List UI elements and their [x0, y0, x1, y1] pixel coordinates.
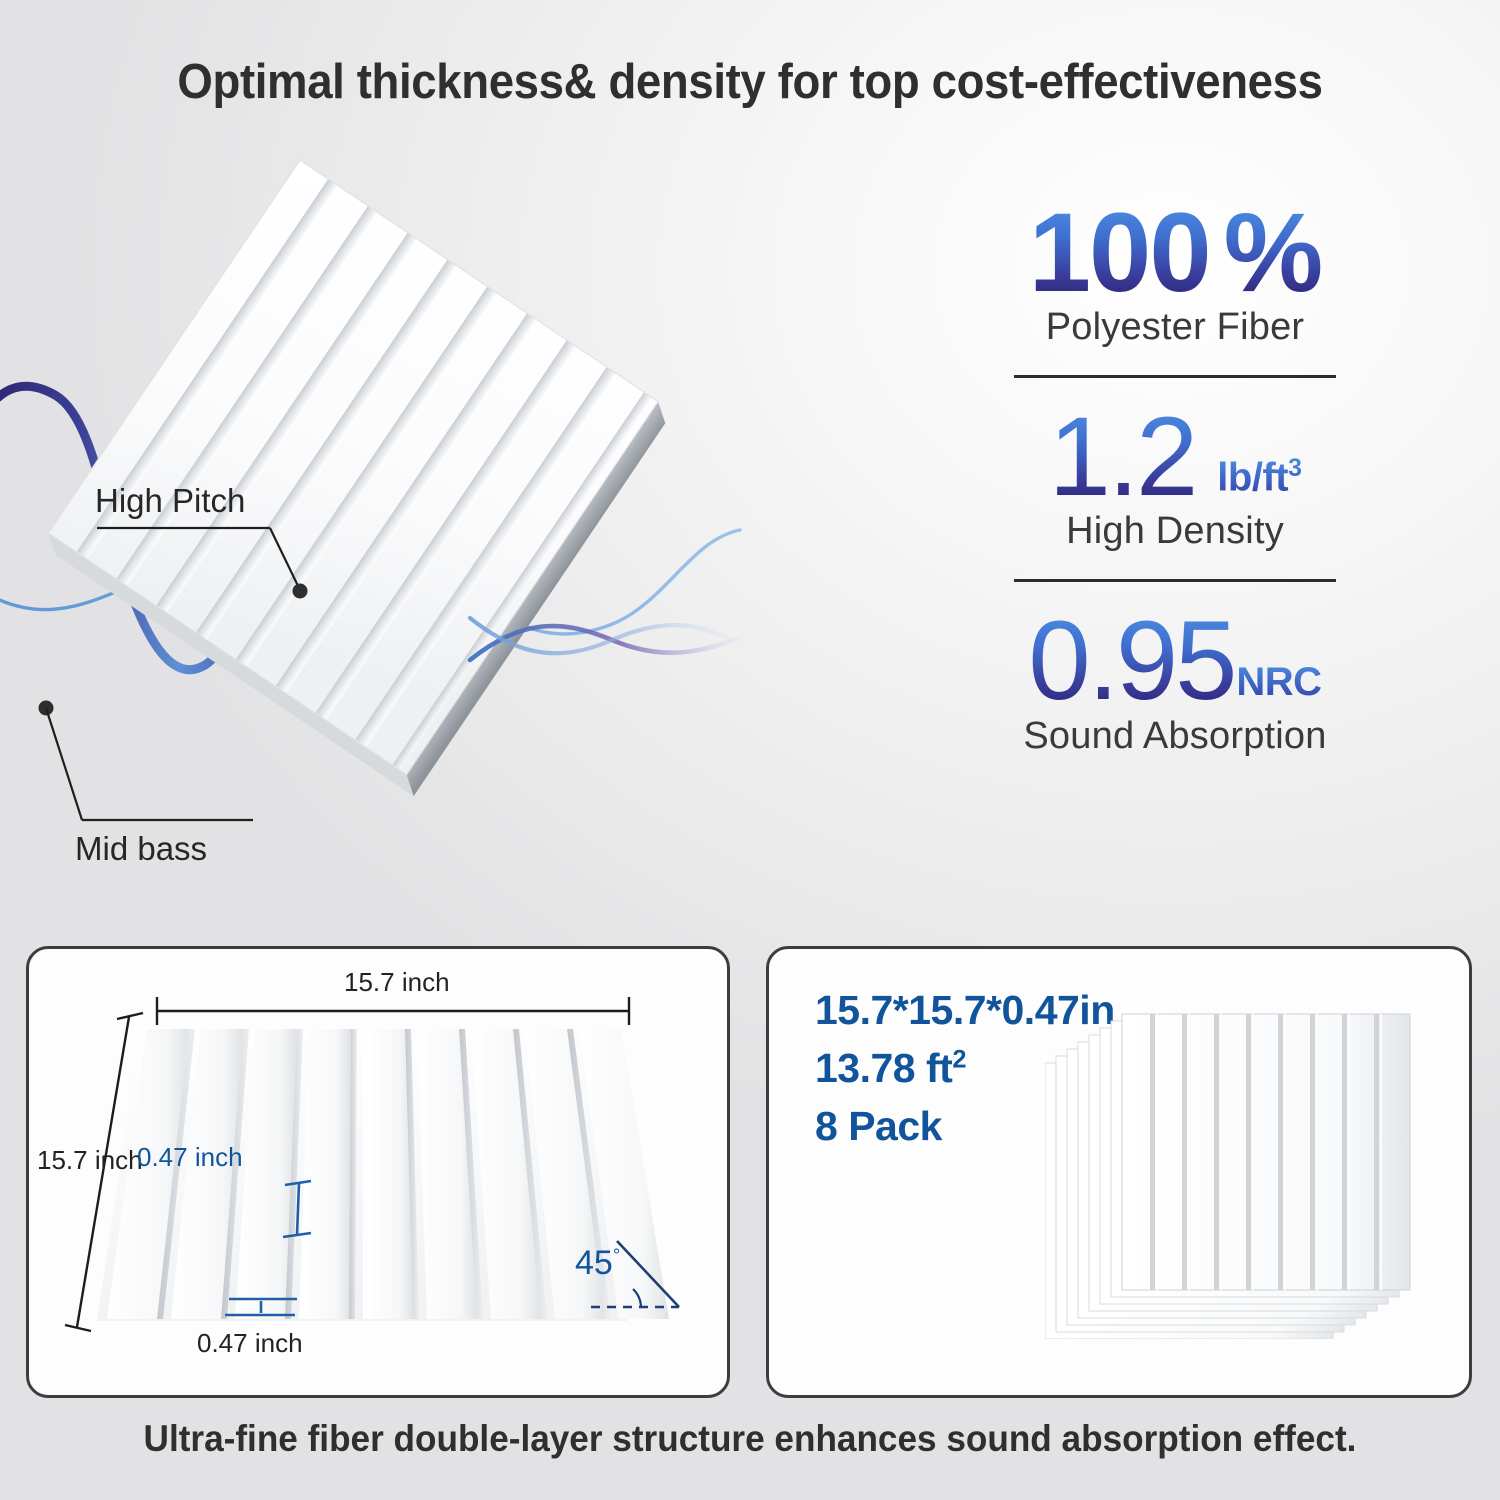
stats-divider-2 — [1014, 579, 1336, 582]
stat-unit-density: lb/ft3 — [1217, 455, 1301, 514]
footer-caption: Ultra-fine fiber double-layer structure … — [38, 1418, 1463, 1460]
width-dimension — [157, 997, 629, 1025]
groove-depth-label: 0.47 inch — [137, 1142, 243, 1173]
stat-polyester: 100 % Polyester Fiber — [960, 196, 1390, 349]
angle-label: 45° — [575, 1244, 620, 1283]
stat-label-nrc: Sound Absorption — [960, 715, 1390, 758]
stat-label-polyester: Polyester Fiber — [960, 306, 1390, 349]
stat-nrc: 0.95 NRC Sound Absorption — [960, 604, 1390, 757]
stat-value-density: 1.2 — [1049, 400, 1196, 514]
mid-bass-leader — [39, 701, 254, 821]
stats-column: 100 % Polyester Fiber 1.2 lb/ft3 High De… — [960, 196, 1390, 758]
hero-svg — [0, 120, 980, 920]
height-label: 15.7 inch — [37, 1145, 143, 1176]
infographic-root: Optimal thickness& density for top cost-… — [0, 0, 1500, 1500]
stat-value-polyester: 100 — [1029, 196, 1210, 310]
width-label: 15.7 inch — [344, 967, 450, 998]
groove-width-label: 0.47 inch — [197, 1328, 303, 1359]
acoustic-panel-hero — [41, 160, 674, 796]
pack-card: 15.7*15.7*0.47in 13.78 ft2 8 Pack — [766, 946, 1472, 1398]
stat-density: 1.2 lb/ft3 High Density — [960, 400, 1390, 553]
hero-illustration: High Pitch Mid bass — [0, 120, 980, 920]
stat-unit-nrc: NRC — [1236, 660, 1321, 719]
dimension-card: 15.7 inch 15.7 inch 0.47 inch 0.47 inch … — [26, 946, 730, 1398]
stat-label-density: High Density — [960, 510, 1390, 553]
high-pitch-label: High Pitch — [95, 482, 245, 520]
panel-stack — [1045, 1014, 1410, 1339]
page-title: Optimal thickness& density for top cost-… — [53, 54, 1448, 110]
stat-unit-percent: % — [1224, 196, 1322, 310]
panel-stack-svg — [1045, 1007, 1457, 1339]
mid-bass-label: Mid bass — [75, 830, 207, 868]
stack-panel-front — [1122, 1014, 1410, 1290]
stat-value-nrc: 0.95 — [1028, 604, 1234, 718]
stats-divider-1 — [1014, 375, 1336, 378]
